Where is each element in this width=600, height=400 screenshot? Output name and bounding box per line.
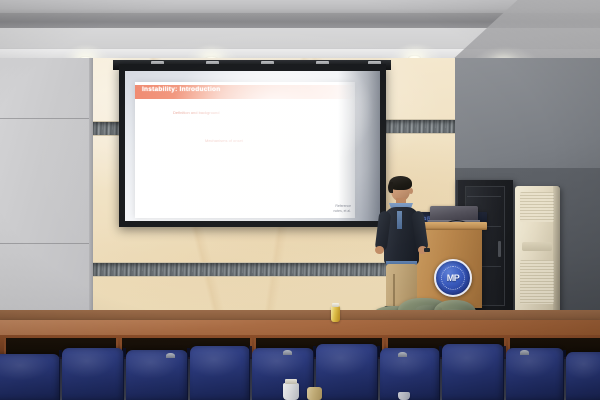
seat-divider bbox=[377, 346, 380, 400]
white-cup[interactable] bbox=[398, 392, 410, 400]
seat-top-fitting bbox=[398, 352, 407, 357]
mosaic-accent-band bbox=[93, 121, 121, 136]
white-cup[interactable] bbox=[283, 383, 299, 400]
bottle-cap-icon bbox=[332, 303, 339, 307]
ac-outlet-grill bbox=[520, 260, 554, 304]
amber-drink-bottle[interactable] bbox=[331, 306, 340, 322]
auditorium-seat[interactable] bbox=[566, 352, 600, 400]
seat-divider bbox=[503, 346, 506, 400]
presenter-shirt-placket bbox=[397, 211, 402, 229]
rack-vent-slot bbox=[467, 196, 501, 197]
left-wall-panel bbox=[0, 58, 92, 313]
auditorium-seat[interactable] bbox=[126, 350, 188, 400]
lecture-hall-photo: Instability: Introduction Definition and… bbox=[0, 0, 600, 400]
ac-side-shading bbox=[553, 186, 560, 314]
seat-top-fitting bbox=[520, 350, 529, 355]
ac-intake-grill bbox=[520, 192, 554, 222]
presentation-clicker[interactable] bbox=[424, 248, 430, 252]
screen-edge-shading bbox=[338, 71, 380, 221]
laptop-screen-lid bbox=[430, 206, 478, 221]
front-desk-countertop bbox=[0, 320, 600, 336]
presenter-hair-side bbox=[388, 182, 393, 193]
seat-divider bbox=[563, 350, 566, 400]
wall-seam bbox=[0, 118, 92, 119]
seat-top-fitting bbox=[166, 353, 175, 358]
auditorium-seat[interactable] bbox=[380, 348, 440, 400]
slide-title-text: Instability: Introduction bbox=[142, 86, 220, 93]
auditorium-seat[interactable] bbox=[190, 346, 250, 400]
ac-control-panel[interactable] bbox=[522, 242, 552, 251]
seat-divider bbox=[249, 346, 252, 400]
auditorium-seat[interactable] bbox=[0, 354, 60, 400]
projected-slide: Instability: Introduction Definition and… bbox=[135, 82, 355, 218]
auditorium-seat[interactable] bbox=[442, 344, 504, 400]
seat-top-fitting bbox=[283, 350, 292, 355]
slide-bullet-1: Definition and background bbox=[173, 110, 219, 115]
wall-seam bbox=[0, 243, 92, 244]
presenter-left-hand bbox=[375, 246, 384, 254]
mosaic-accent-band bbox=[386, 119, 455, 134]
projection-screen-surface: Instability: Introduction Definition and… bbox=[125, 71, 380, 221]
seat-divider bbox=[59, 350, 62, 400]
seal-monogram-text: MP bbox=[447, 273, 460, 283]
auditorium-seat[interactable] bbox=[506, 348, 564, 400]
auditorium-seat[interactable] bbox=[62, 348, 124, 400]
floor-standing-air-conditioner[interactable] bbox=[515, 186, 560, 314]
seal-inner-ring: MP bbox=[441, 266, 465, 290]
seat-divider bbox=[187, 348, 190, 400]
slide-bullet-2: Mechanisms of onset bbox=[205, 138, 243, 143]
rack-handle-icon[interactable] bbox=[498, 241, 501, 257]
seat-divider bbox=[439, 346, 442, 400]
seat-divider bbox=[123, 348, 126, 400]
institution-seal-emblem: MP bbox=[434, 259, 472, 297]
white-cup-lid bbox=[285, 379, 297, 384]
tan-cup[interactable] bbox=[307, 387, 322, 400]
presenter-figure bbox=[378, 178, 424, 310]
auditorium-seat[interactable] bbox=[316, 344, 378, 400]
presenter-ear bbox=[409, 188, 413, 194]
